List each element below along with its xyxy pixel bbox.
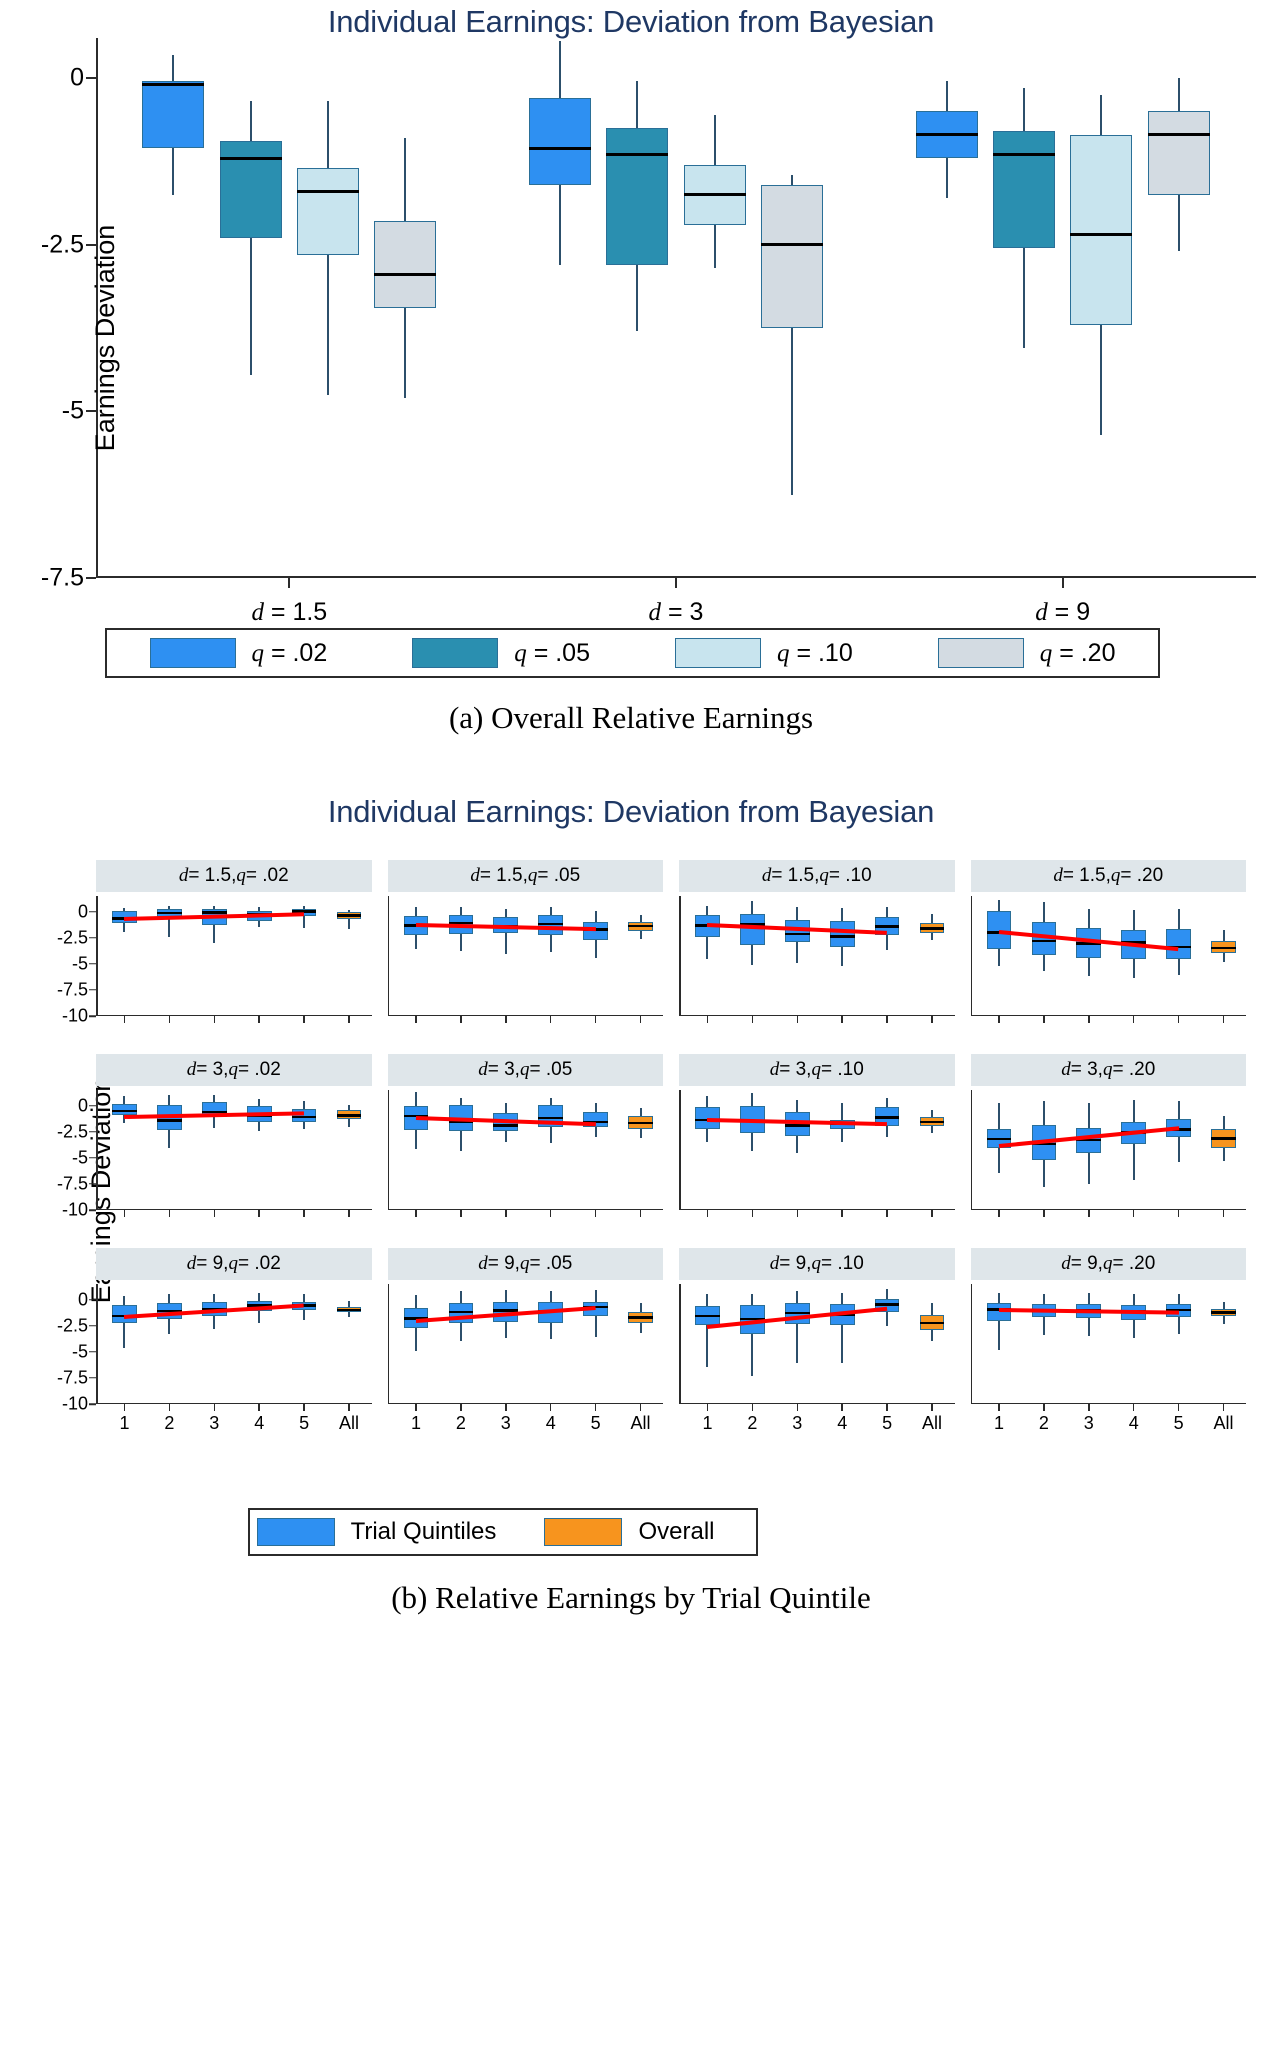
panel-a-legend-label: q = .20 <box>1040 639 1116 668</box>
panel-a-plot-area: Earnings Deviation 0-2.5-5-7.5d = 1.5d =… <box>96 38 1256 578</box>
panel-b-facet: d = 1.5, q = .20 <box>971 860 1247 1042</box>
panel-b-box <box>740 914 765 945</box>
panel-b-x-axis-line <box>971 1403 1247 1405</box>
panel-b-y-tick-mark <box>89 1183 96 1185</box>
panel-b-x-tick-label: 1 <box>702 1413 712 1434</box>
panel-b-x-tick-label: 3 <box>209 1413 219 1434</box>
panel-b-y-tick-mark <box>89 1403 96 1405</box>
panel-b-x-axis-line <box>96 1209 372 1211</box>
panel-b-x-axis-line <box>971 1015 1247 1017</box>
panel-b-median-line <box>493 1124 518 1127</box>
panel-b-x-tick-mark <box>797 1016 799 1023</box>
panel-b-x-tick-mark <box>998 1210 1000 1217</box>
panel-b-facet-header: d = 1.5, q = .20 <box>971 860 1247 892</box>
panel-b-median-line <box>538 923 563 926</box>
panel-b-facet-header: d = 1.5, q = .05 <box>388 860 664 892</box>
panel-b-whisker <box>796 1291 798 1363</box>
panel-b-median-line <box>875 1303 900 1306</box>
panel-b-x-axis-line <box>388 1403 664 1405</box>
panel-a-median-line <box>993 153 1055 156</box>
panel-b-facet-header: d = 9, q = .20 <box>971 1248 1247 1280</box>
panel-b-median-line <box>875 925 900 928</box>
panel-b-title: Individual Earnings: Deviation from Baye… <box>0 780 1262 830</box>
panel-a-median-line <box>220 157 282 160</box>
panel-b-x-tick-mark <box>303 1404 305 1411</box>
panel-b-x-axis-line <box>96 1015 372 1017</box>
panel-b-x-tick-label: 2 <box>747 1413 757 1434</box>
panel-b-x-tick-label: 5 <box>299 1413 309 1434</box>
panel-b-x-tick-mark <box>124 1016 126 1023</box>
panel-b-y-axis-line <box>96 1284 98 1404</box>
panel-b-x-tick-mark <box>169 1016 171 1023</box>
panel-b-x-tick-mark <box>550 1210 552 1217</box>
panel-b-y-axis-line <box>388 1284 390 1404</box>
panel-b-legend: Trial QuintilesOverall <box>248 1508 758 1556</box>
panel-b-legend-swatch <box>257 1518 335 1546</box>
panel-a-box <box>529 98 591 185</box>
panel-b-x-tick-mark <box>303 1210 305 1217</box>
panel-b-median-line <box>785 933 810 936</box>
panel-b-box <box>830 921 855 947</box>
panel-b-x-tick-label: 2 <box>164 1413 174 1434</box>
panel-b-median-line <box>695 1315 720 1318</box>
panel-b-facet-plot <box>971 896 1247 1016</box>
panel-b-facet: d = 9, q = .0512345All <box>388 1248 664 1430</box>
panel-b-x-tick-mark <box>460 1210 462 1217</box>
panel-a-legend-item[interactable]: q = .05 <box>370 638 633 668</box>
panel-b-facet-header: d = 9, q = .10 <box>679 1248 955 1280</box>
panel-b-legend-item[interactable]: Overall <box>503 1518 756 1546</box>
panel-b-x-tick-label: 4 <box>254 1413 264 1434</box>
panel-b-x-tick-mark <box>752 1210 754 1217</box>
panel-b-y-tick-mark <box>89 1209 96 1211</box>
panel-b-median-line <box>875 1116 900 1119</box>
panel-b-x-tick-label: 1 <box>994 1413 1004 1434</box>
panel-b-facet-header: d = 9, q = .05 <box>388 1248 664 1280</box>
panel-b-x-tick-mark <box>1133 1210 1135 1217</box>
panel-b-x-tick-label: 1 <box>411 1413 421 1434</box>
panel-b-y-axis-line <box>679 1090 681 1210</box>
panel-a-median-line <box>529 147 591 150</box>
panel-b-facet: d = 1.5, q = .05 <box>388 860 664 1042</box>
panel-b-x-tick-mark <box>169 1210 171 1217</box>
panel-a-legend-label: q = .10 <box>777 639 853 668</box>
panel-b-y-axis-line <box>971 896 973 1016</box>
panel-b-median-line <box>628 925 653 928</box>
panel-b-x-tick-mark <box>214 1016 216 1023</box>
panel-b-x-axis-line <box>679 1403 955 1405</box>
panel-b-y-axis-line <box>96 1090 98 1210</box>
panel-b-y-tick-mark <box>89 911 96 913</box>
panel-b-x-tick-label: All <box>339 1413 359 1434</box>
panel-b-x-tick-label: 5 <box>1174 1413 1184 1434</box>
panel-a-legend: q = .02q = .05q = .10q = .20 <box>105 628 1160 678</box>
panel-b-facet: d = 1.5, q = .10 <box>679 860 955 1042</box>
panel-b-y-tick-mark <box>89 1299 96 1301</box>
panel-b-x-tick-label: 2 <box>456 1413 466 1434</box>
panel-b-x-tick-mark <box>1133 1404 1135 1411</box>
panel-b-x-tick-mark <box>505 1016 507 1023</box>
panel-b-x-tick-mark <box>258 1210 260 1217</box>
panel-b-x-tick-mark <box>550 1404 552 1411</box>
panel-a-group-label: d = 1.5 <box>251 598 327 627</box>
panel-a-legend-label: q = .02 <box>252 639 328 668</box>
panel-b-median-line <box>202 911 227 914</box>
panel-b-facet-header: d = 1.5, q = .10 <box>679 860 955 892</box>
panel-b-x-tick-mark <box>886 1404 888 1411</box>
panel-b-x-tick-mark <box>886 1016 888 1023</box>
panel-b-x-axis-line <box>96 1403 372 1405</box>
panel-b-x-tick-label: 4 <box>1129 1413 1139 1434</box>
panel-b-median-line <box>785 1124 810 1127</box>
panel-b-y-tick-mark <box>89 963 96 965</box>
panel-b-median-line <box>337 914 362 917</box>
panel-b-x-tick-mark <box>1223 1016 1225 1023</box>
panel-b-caption: (b) Relative Earnings by Trial Quintile <box>0 1580 1262 1616</box>
panel-b-x-tick-mark <box>505 1210 507 1217</box>
panel-a-median-line <box>297 190 359 193</box>
panel-b-facet-header: d = 3, q = .05 <box>388 1054 664 1086</box>
panel-b-x-tick-mark <box>1178 1016 1180 1023</box>
panel-b-facet-header: d = 3, q = .20 <box>971 1054 1247 1086</box>
panel-b-facet-plot <box>679 896 955 1016</box>
panel-b-y-tick-mark <box>89 1377 96 1379</box>
panel-a-box <box>297 168 359 255</box>
panel-b-y-axis-line <box>388 1090 390 1210</box>
panel-b-x-tick-mark <box>931 1016 933 1023</box>
panel-b-x-tick-mark <box>752 1404 754 1411</box>
panel-a-caption: (a) Overall Relative Earnings <box>0 700 1262 736</box>
panel-b-median-line <box>1211 1137 1236 1140</box>
panel-b-x-tick-label: All <box>631 1413 651 1434</box>
panel-b-y-axis-line <box>388 896 390 1016</box>
panel-b-x-tick-mark <box>1088 1210 1090 1217</box>
panel-b-x-tick-mark <box>460 1404 462 1411</box>
panel-b-y-tick-mark <box>89 1157 96 1159</box>
panel-b-x-tick-label: 3 <box>501 1413 511 1434</box>
panel-b-median-line <box>538 1117 563 1120</box>
panel-b-x-tick-mark <box>998 1016 1000 1023</box>
panel-b-x-tick-mark <box>124 1404 126 1411</box>
panel-b-x-tick-mark <box>640 1210 642 1217</box>
panel-b-x-tick-mark <box>640 1404 642 1411</box>
panel-a-legend-item[interactable]: q = .10 <box>633 638 896 668</box>
panel-b-x-tick-label: 4 <box>837 1413 847 1434</box>
panel-b-whisker <box>706 1294 708 1367</box>
panel-a-legend-swatch <box>150 638 236 668</box>
panel-a-legend-item[interactable]: q = .02 <box>107 638 370 668</box>
panel-a-y-tick-mark <box>86 77 96 79</box>
panel-b-x-tick-mark <box>931 1210 933 1217</box>
panel-a-legend-swatch <box>412 638 498 668</box>
panel-b-median-line <box>157 1119 182 1122</box>
panel-a-median-line <box>761 243 823 246</box>
panel-b-legend-swatch <box>544 1518 622 1546</box>
panel-b-x-tick-mark <box>707 1210 709 1217</box>
panel-b-x-tick-mark <box>931 1404 933 1411</box>
panel-b-y-axis-line <box>971 1284 973 1404</box>
panel-b-median-line <box>1211 947 1236 950</box>
panel-b-x-tick-mark <box>1043 1016 1045 1023</box>
panel-b-x-tick-mark <box>1043 1210 1045 1217</box>
panel-b-median-line <box>920 1121 945 1124</box>
panel-b-x-axis-line <box>971 1209 1247 1211</box>
panel-a-legend-swatch <box>675 638 761 668</box>
panel-b-facet: d = 3, q = .05 <box>388 1054 664 1236</box>
panel-b-x-tick-label: 1 <box>119 1413 129 1434</box>
panel-b-median-line <box>920 1322 945 1325</box>
panel-a-box <box>606 128 668 265</box>
panel-a-median-line <box>142 83 204 86</box>
panel-b-x-tick-mark <box>1088 1016 1090 1023</box>
panel-b-x-tick-mark <box>348 1404 350 1411</box>
panel-b-facet-plot: 12345All <box>388 1284 664 1404</box>
panel-b-x-tick-mark <box>460 1016 462 1023</box>
panel-a-legend-item[interactable]: q = .20 <box>895 638 1158 668</box>
panel-b-median-line <box>830 935 855 938</box>
panel-a-median-line <box>374 273 436 276</box>
panel-b-relative-earnings-by-quintile: Individual Earnings: Deviation from Baye… <box>0 780 1262 2056</box>
panel-b-x-tick-mark <box>886 1210 888 1217</box>
panel-b-x-axis-line <box>679 1209 955 1211</box>
panel-b-facet-plot <box>679 1090 955 1210</box>
panel-b-x-tick-mark <box>1223 1210 1225 1217</box>
panel-b-facet-plot: 12345All <box>679 1284 955 1404</box>
panel-b-box <box>987 1303 1012 1321</box>
panel-a-median-line <box>1070 233 1132 236</box>
panel-b-facet-header: d = 9, q = .02 <box>96 1248 372 1280</box>
panel-b-median-line <box>1211 1311 1236 1314</box>
panel-a-median-line <box>1148 133 1210 136</box>
panel-a-legend-label: q = .05 <box>514 639 590 668</box>
panel-a-box <box>993 131 1055 248</box>
panel-b-y-axis-line <box>971 1090 973 1210</box>
panel-b-legend-label: Trial Quintiles <box>351 1518 497 1546</box>
panel-b-x-tick-mark <box>841 1210 843 1217</box>
panel-a-x-tick-mark <box>288 578 290 588</box>
panel-a-x-tick-mark <box>1062 578 1064 588</box>
panel-b-median-line <box>1032 940 1057 943</box>
panel-a-box <box>1070 135 1132 325</box>
panel-b-median-line <box>628 1122 653 1125</box>
panel-b-x-tick-mark <box>550 1016 552 1023</box>
panel-a-median-line <box>606 153 668 156</box>
panel-b-x-tick-mark <box>415 1016 417 1023</box>
panel-b-y-tick-mark <box>89 1131 96 1133</box>
panel-a-group-label: d = 9 <box>1035 598 1090 627</box>
panel-b-x-tick-mark <box>1133 1016 1135 1023</box>
panel-b-facet-grid: Earnings Deviation d = 1.5, q = .020-2.5… <box>96 860 1246 1450</box>
panel-b-x-tick-mark <box>1043 1404 1045 1411</box>
panel-b-x-tick-mark <box>258 1016 260 1023</box>
panel-a-title: Individual Earnings: Deviation from Baye… <box>0 0 1262 40</box>
panel-b-facet: d = 9, q = .1012345All <box>679 1248 955 1430</box>
panel-b-x-tick-mark <box>595 1016 597 1023</box>
panel-b-x-tick-mark <box>348 1016 350 1023</box>
panel-b-x-tick-mark <box>797 1210 799 1217</box>
panel-a-group-label: d = 3 <box>649 598 704 627</box>
panel-b-x-tick-label: All <box>1214 1413 1234 1434</box>
panel-b-x-tick-mark <box>505 1404 507 1411</box>
panel-a-y-tick-mark <box>86 410 96 412</box>
panel-b-facet-plot: 12345All <box>971 1284 1247 1404</box>
panel-a-median-line <box>916 133 978 136</box>
panel-b-x-tick-mark <box>1088 1404 1090 1411</box>
panel-a-median-line <box>684 193 746 196</box>
panel-a-box <box>761 185 823 328</box>
panel-b-facet: d = 3, q = .020-2.5-5-7.5-10 <box>96 1054 372 1236</box>
panel-b-facet-plot: 0-2.5-5-7.5-1012345All <box>96 1284 372 1404</box>
panel-b-x-tick-mark <box>707 1016 709 1023</box>
panel-b-x-tick-mark <box>1178 1404 1180 1411</box>
panel-a-box <box>374 221 436 308</box>
panel-b-y-tick-mark <box>89 1015 96 1017</box>
panel-b-x-tick-label: 5 <box>882 1413 892 1434</box>
panel-b-y-tick-mark <box>89 937 96 939</box>
panel-b-y-axis-line <box>679 896 681 1016</box>
panel-b-median-line <box>337 1114 362 1117</box>
panel-b-x-tick-mark <box>1178 1210 1180 1217</box>
panel-b-facet-plot <box>388 1090 664 1210</box>
panel-b-median-line <box>157 912 182 915</box>
panel-b-legend-label: Overall <box>638 1518 714 1546</box>
panel-b-x-tick-mark <box>841 1016 843 1023</box>
panel-b-x-tick-label: 5 <box>591 1413 601 1434</box>
panel-b-facet-header: d = 3, q = .02 <box>96 1054 372 1086</box>
panel-b-x-tick-label: All <box>922 1413 942 1434</box>
panel-b-x-tick-mark <box>707 1404 709 1411</box>
panel-a-x-tick-mark <box>675 578 677 588</box>
panel-b-y-tick-mark <box>89 1351 96 1353</box>
panel-b-facet: d = 3, q = .20 <box>971 1054 1247 1236</box>
panel-b-y-tick-mark <box>89 1105 96 1107</box>
panel-a-legend-swatch <box>938 638 1024 668</box>
panel-b-x-axis-line <box>388 1209 664 1211</box>
panel-b-x-tick-mark <box>415 1210 417 1217</box>
panel-b-x-tick-label: 3 <box>792 1413 802 1434</box>
panel-b-x-tick-mark <box>169 1404 171 1411</box>
panel-b-y-axis-line <box>96 896 98 1016</box>
panel-b-median-line <box>449 1311 474 1314</box>
panel-b-legend-item[interactable]: Trial Quintiles <box>250 1518 503 1546</box>
panel-b-facet-header: d = 1.5, q = .02 <box>96 860 372 892</box>
panel-b-x-tick-mark <box>595 1210 597 1217</box>
panel-b-x-tick-mark <box>348 1210 350 1217</box>
panel-a-y-tick-mark <box>86 577 96 579</box>
panel-b-y-tick-mark <box>89 1325 96 1327</box>
panel-b-y-tick-mark <box>89 989 96 991</box>
panel-b-x-tick-label: 4 <box>546 1413 556 1434</box>
panel-b-x-axis-line <box>679 1015 955 1017</box>
panel-b-x-tick-mark <box>998 1404 1000 1411</box>
panel-b-facet-plot <box>971 1090 1247 1210</box>
panel-b-facet-plot: 0-2.5-5-7.5-10 <box>96 1090 372 1210</box>
panel-b-x-tick-label: 2 <box>1039 1413 1049 1434</box>
panel-b-median-line <box>920 927 945 930</box>
panel-b-x-tick-mark <box>841 1404 843 1411</box>
panel-b-x-tick-mark <box>1223 1404 1225 1411</box>
panel-b-whisker <box>998 1293 1000 1350</box>
panel-b-x-tick-mark <box>214 1210 216 1217</box>
panel-a-overall-relative-earnings: Individual Earnings: Deviation from Baye… <box>0 0 1262 770</box>
panel-b-facet-header: d = 3, q = .10 <box>679 1054 955 1086</box>
panel-b-x-tick-mark <box>214 1404 216 1411</box>
panel-b-x-tick-mark <box>415 1404 417 1411</box>
panel-b-median-line <box>112 1110 137 1113</box>
panel-b-median-line <box>292 1116 317 1119</box>
panel-b-x-tick-mark <box>797 1404 799 1411</box>
panel-b-facet: d = 9, q = .2012345All <box>971 1248 1247 1430</box>
panel-b-median-line <box>987 1138 1012 1141</box>
panel-b-facet-plot <box>388 896 664 1016</box>
panel-b-facet-plot: 0-2.5-5-7.5-10 <box>96 896 372 1016</box>
panel-b-facet: d = 1.5, q = .020-2.5-5-7.5-10 <box>96 860 372 1042</box>
panel-b-y-axis-line <box>679 1284 681 1404</box>
panel-a-box <box>1148 111 1210 194</box>
panel-b-x-tick-mark <box>303 1016 305 1023</box>
panel-b-x-tick-mark <box>258 1404 260 1411</box>
panel-b-median-line <box>628 1316 653 1319</box>
panel-b-median-line <box>785 1312 810 1315</box>
panel-b-box <box>1166 929 1191 959</box>
panel-b-x-tick-mark <box>124 1210 126 1217</box>
panel-a-y-tick-mark <box>86 244 96 246</box>
panel-b-x-tick-mark <box>752 1016 754 1023</box>
panel-b-facet: d = 9, q = .020-2.5-5-7.5-1012345All <box>96 1248 372 1430</box>
panel-b-x-axis-line <box>388 1015 664 1017</box>
panel-b-x-tick-mark <box>595 1404 597 1411</box>
panel-b-median-line <box>337 1309 362 1312</box>
panel-b-facet: d = 3, q = .10 <box>679 1054 955 1236</box>
panel-a-box <box>142 81 204 148</box>
panel-b-x-tick-mark <box>640 1016 642 1023</box>
panel-b-x-tick-label: 3 <box>1084 1413 1094 1434</box>
